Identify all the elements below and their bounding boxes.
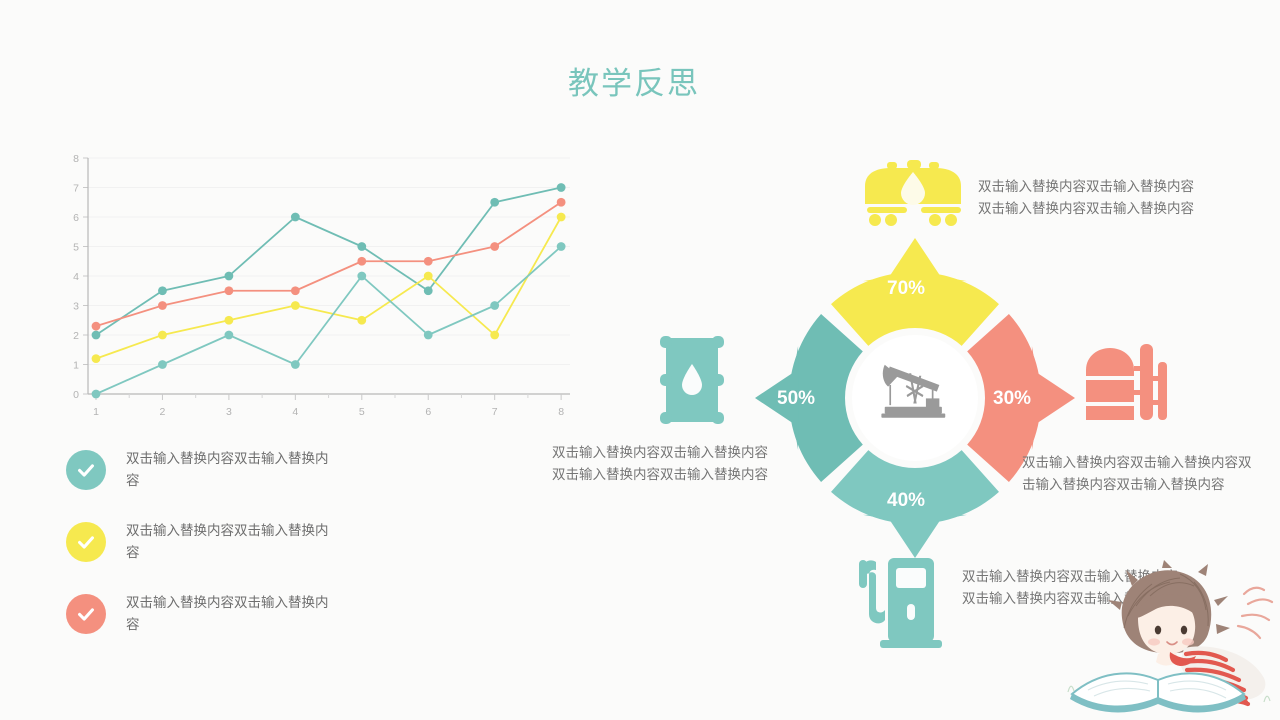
chart-series-series-teal xyxy=(92,242,566,398)
chart-axes xyxy=(83,158,570,400)
open-book xyxy=(1070,673,1246,712)
chart-y-tick: 0 xyxy=(73,389,79,401)
chart-x-tick: 4 xyxy=(292,406,298,418)
oil-barrel-icon xyxy=(652,330,744,430)
donut-segment-bottom[interactable] xyxy=(831,450,999,524)
callout-text-right: 双击输入替换内容双击输入替换内容双击输入替换内容双击输入替换内容 xyxy=(1022,452,1252,496)
chart-series-series-salmon xyxy=(92,198,566,331)
chart-x-tick: 2 xyxy=(160,406,166,418)
callout-text-left: 双击输入替换内容双击输入替换内容双击输入替换内容双击输入替换内容 xyxy=(552,442,772,486)
check-circle-icon xyxy=(66,450,106,490)
oil-pumpjack-icon xyxy=(853,328,977,452)
chart-y-tick: 2 xyxy=(73,330,79,342)
chart-x-tick: 1 xyxy=(93,406,99,418)
chart-y-tick: 5 xyxy=(73,242,79,254)
eye-right xyxy=(1181,626,1187,635)
donut-label-bottom: 40% xyxy=(887,490,925,512)
donut-arrow-right xyxy=(1032,346,1075,450)
tanker-truck-icon xyxy=(843,160,983,232)
chart-y-tick: 4 xyxy=(73,271,79,283)
donut-arrow-top xyxy=(863,238,967,281)
fuel-pump-icon xyxy=(848,552,944,650)
chart-series-series-teal-dark xyxy=(92,183,566,339)
chart-y-tick-labels: 012345678 xyxy=(73,153,79,401)
legend-item-label: 双击输入替换内容双击输入替换内容 xyxy=(126,520,341,564)
chart-x-tick: 3 xyxy=(226,406,232,418)
chart-y-tick: 3 xyxy=(73,301,79,313)
chart-x-tick: 6 xyxy=(425,406,431,418)
legend-item[interactable]: 双击输入替换内容双击输入替换内容 xyxy=(66,592,386,636)
callout-text-bottom: 双击输入替换内容双击输入替换内容双击输入替换内容双击输入替换内容 xyxy=(962,566,1184,610)
callout-text-top: 双击输入替换内容双击输入替换内容双击输入替换内容双击输入替换内容 xyxy=(978,176,1200,220)
chart-y-tick: 6 xyxy=(73,212,79,224)
legend-item[interactable]: 双击输入替换内容双击输入替换内容 xyxy=(66,448,386,492)
chart-y-tick: 8 xyxy=(73,153,79,165)
chart-series-group xyxy=(92,183,566,398)
donut-label-right: 30% xyxy=(993,388,1031,410)
chart-x-tick: 7 xyxy=(492,406,498,418)
eye-left xyxy=(1155,626,1161,635)
donut-infographic: 70% 30% 40% 50% xyxy=(735,218,1095,578)
check-circle-icon xyxy=(66,522,106,562)
donut-label-left: 50% xyxy=(777,388,815,410)
legend-item[interactable]: 双击输入替换内容双击输入替换内容 xyxy=(66,520,386,564)
chart-legend: 双击输入替换内容双击输入替换内容 双击输入替换内容双击输入替换内容 双击输入替换… xyxy=(66,448,386,664)
page-title: 教学反思 xyxy=(568,58,700,103)
line-chart: 012345678 12345678 xyxy=(62,152,574,420)
donut-label-top: 70% xyxy=(887,278,925,300)
chart-x-tick: 8 xyxy=(558,406,564,418)
check-circle-icon xyxy=(66,594,106,634)
chart-y-tick: 7 xyxy=(73,183,79,195)
chart-x-tick: 5 xyxy=(359,406,365,418)
legend-item-label: 双击输入替换内容双击输入替换内容 xyxy=(126,448,341,492)
line-chart-svg: 012345678 12345678 xyxy=(62,152,574,420)
slide-canvas: 教学反思 012345678 12345678 双击输入替换内容双击输入替换内容… xyxy=(0,0,1280,720)
chart-x-tick-labels: 12345678 xyxy=(93,406,564,418)
legend-item-label: 双击输入替换内容双击输入替换内容 xyxy=(126,592,341,636)
refinery-tank-icon xyxy=(1082,340,1178,424)
chart-y-tick: 1 xyxy=(73,360,79,372)
